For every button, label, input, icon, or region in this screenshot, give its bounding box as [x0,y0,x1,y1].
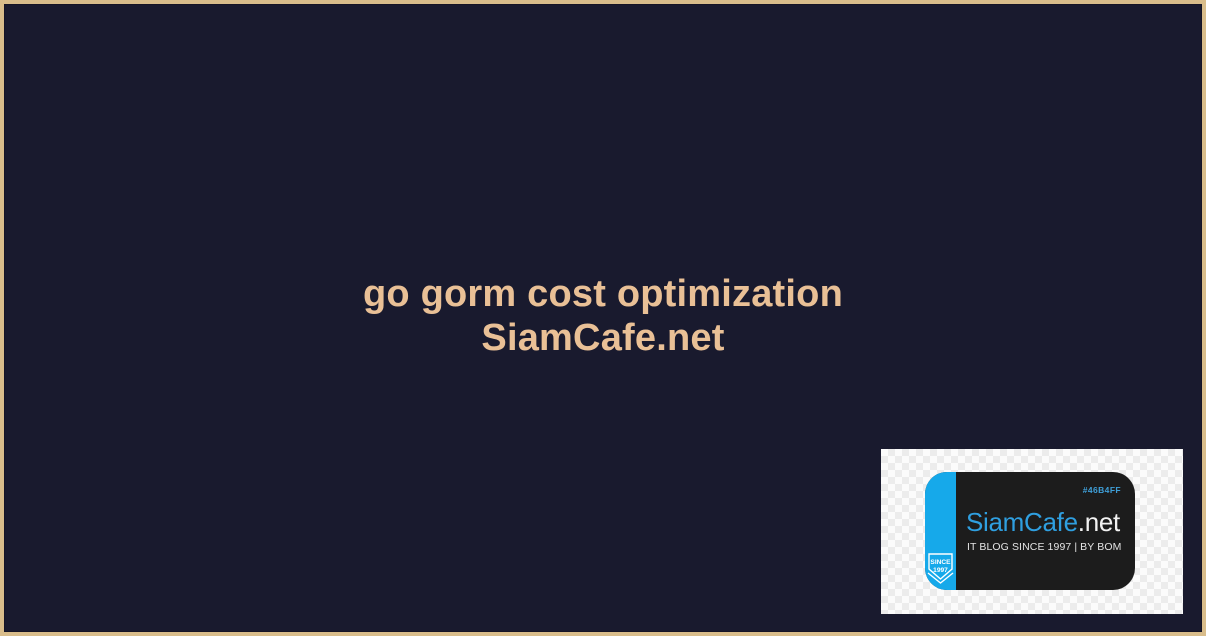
since-badge-line2: 1997 [933,567,948,574]
hex-color-label: #46B4FF [1083,485,1121,495]
page-title: go gorm cost optimization SiamCafe.net [4,272,1202,360]
page-canvas: go gorm cost optimization SiamCafe.net S… [4,4,1202,632]
logo-tagline: IT BLOG SINCE 1997 | BY BOM [967,541,1121,553]
logo-panel: SINCE 1997 #46B4FF SiamCafe.net IT BLOG … [881,449,1183,614]
siamcafe-logo-card[interactable]: SINCE 1997 #46B4FF SiamCafe.net IT BLOG … [925,472,1135,590]
logo-wordmark-suffix: .net [1078,507,1120,537]
logo-wordmark: SiamCafe.net [966,508,1120,536]
since-shield-icon: SINCE 1997 [926,552,955,586]
logo-content: #46B4FF SiamCafe.net IT BLOG SINCE 1997 … [956,472,1135,590]
since-badge-line1: SINCE [930,559,951,566]
page-frame: go gorm cost optimization SiamCafe.net S… [0,0,1206,636]
logo-wordmark-primary: SiamCafe [966,507,1078,537]
